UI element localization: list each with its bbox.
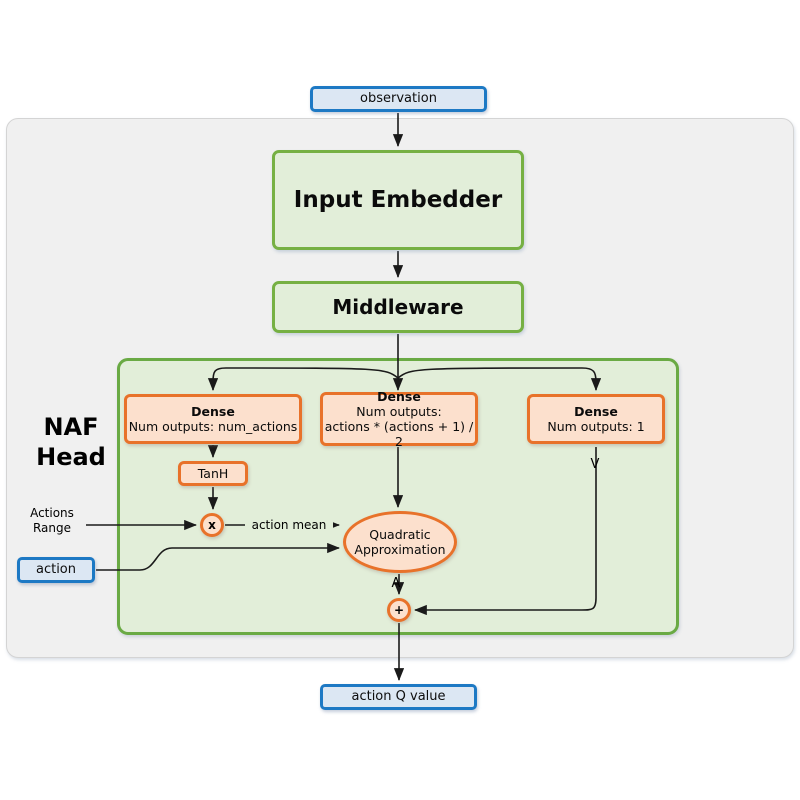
middleware-block[interactable]: Middleware [272,281,524,333]
multiply-operator-node[interactable]: x [200,513,224,537]
action-q-value-output-box[interactable]: action Q value [320,684,477,710]
action-input-box[interactable]: action [17,557,95,583]
quadratic-label-line2: Approximation [354,542,445,557]
naf-head-label: NAF Head [28,412,114,472]
input-embedder-block[interactable]: Input Embedder [272,150,524,250]
dense-v-detail: Num outputs: 1 [547,419,644,434]
dense-v-title: Dense [547,404,644,419]
advantage-edge-label: A [386,576,406,592]
observation-input-box[interactable]: observation [310,86,487,112]
dense-mu-title: Dense [129,404,298,419]
multiply-symbol: x [208,518,216,533]
dense-covariance-block[interactable]: Dense Num outputs: actions * (actions + … [320,392,478,446]
action-label: action [36,562,76,578]
middleware-label: Middleware [332,295,463,319]
add-symbol: + [394,603,404,618]
observation-label: observation [360,91,437,107]
dense-l-detail-line1: Num outputs: [323,404,475,419]
actions-range-line1: Actions [18,506,86,521]
actions-range-line2: Range [18,521,86,536]
dense-l-title: Dense [323,389,475,404]
dense-value-block[interactable]: Dense Num outputs: 1 [527,394,665,444]
dense-num-actions-block[interactable]: Dense Num outputs: num_actions [124,394,302,444]
tanh-activation-block[interactable]: TanH [178,461,248,486]
action-mean-edge-label: action mean [245,518,333,533]
tanh-label: TanH [198,466,229,481]
input-embedder-label: Input Embedder [294,186,502,214]
quadratic-label-line1: Quadratic [354,527,445,542]
dense-l-detail-line2: actions * (actions + 1) / 2 [323,419,475,450]
actions-range-label: Actions Range [18,506,86,536]
value-edge-label: V [585,457,605,473]
action-q-value-label: action Q value [351,689,445,705]
quadratic-approximation-node[interactable]: Quadratic Approximation [343,511,457,573]
add-operator-node[interactable]: + [387,598,411,622]
naf-head-label-line2: Head [28,442,114,472]
dense-mu-detail: Num outputs: num_actions [129,419,298,434]
naf-head-label-line1: NAF [28,412,114,442]
diagram-canvas: observation Input Embedder Middleware De… [0,0,800,800]
